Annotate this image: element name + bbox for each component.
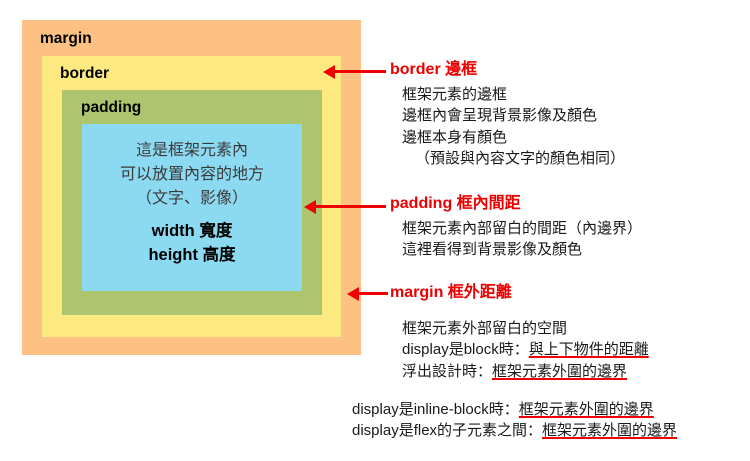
note-line: （預設與內容文字的顏色相同） bbox=[402, 148, 625, 169]
content-text-line: 可以放置內容的地方 bbox=[120, 163, 264, 187]
note-padding: padding 框內間距 框架元素內部留白的間距（內邊界） 這裡看得到背景影像及… bbox=[390, 194, 642, 261]
note-line-plain: 框架元素外部留白的空間 bbox=[402, 320, 567, 337]
note-line-plain: 浮出設計時： bbox=[402, 363, 492, 380]
margin-label: margin bbox=[40, 31, 92, 47]
note-line: display是block時：與上下物件的距離 bbox=[402, 339, 649, 360]
note-border: border 邊框 框架元素的邊框 邊框內會呈現背景影像及顏色 邊框本身有顏色 … bbox=[390, 60, 625, 169]
note-line-underlined: 框架元素外圍的邊界 bbox=[542, 422, 677, 439]
arrow-to-margin bbox=[358, 292, 388, 295]
content-text-line: 這是框架元素內 bbox=[136, 139, 248, 163]
arrow-to-border bbox=[334, 70, 386, 73]
margin-layer: margin border padding 這是框架元素內 可以放置內容的地方 … bbox=[22, 20, 361, 355]
content-width-label: width 寬度 bbox=[152, 220, 233, 244]
note-line-plain: display是block時： bbox=[402, 341, 529, 358]
note-margin-heading: margin 框外距離 bbox=[390, 283, 649, 302]
note-line-underlined: 框架元素外圍的邊界 bbox=[492, 363, 627, 380]
content-layer: 這是框架元素內 可以放置內容的地方 （文字、影像） width 寬度 heigh… bbox=[82, 124, 302, 291]
arrow-to-padding bbox=[315, 205, 386, 208]
note-line: 浮出設計時：框架元素外圍的邊界 bbox=[402, 361, 649, 382]
note-line-plain: display是flex的子元素之間： bbox=[352, 422, 542, 439]
content-text-line: （文字、影像） bbox=[136, 187, 248, 211]
note-line: 框架元素內部留白的間距（內邊界） bbox=[402, 218, 642, 239]
note-padding-heading: padding 框內間距 bbox=[390, 194, 642, 213]
note-line: 邊框本身有顏色 bbox=[402, 127, 625, 148]
note-line: 框架元素的邊框 bbox=[402, 84, 625, 105]
note-margin-body: 框架元素外部留白的空間 display是block時：與上下物件的距離 浮出設計… bbox=[402, 318, 649, 382]
content-height-label: height 高度 bbox=[148, 244, 235, 268]
note-line-plain: display是inline-block時： bbox=[352, 401, 519, 418]
note-border-heading: border 邊框 bbox=[390, 60, 625, 79]
note-border-body: 框架元素的邊框 邊框內會呈現背景影像及顏色 邊框本身有顏色 （預設與內容文字的顏… bbox=[402, 84, 625, 169]
border-label: border bbox=[60, 66, 109, 82]
border-layer: border padding 這是框架元素內 可以放置內容的地方 （文字、影像）… bbox=[42, 56, 341, 337]
note-line: display是inline-block時：框架元素外圍的邊界 bbox=[352, 399, 677, 420]
padding-layer: padding 這是框架元素內 可以放置內容的地方 （文字、影像） width … bbox=[62, 90, 322, 315]
box-model-diagram: margin border padding 這是框架元素內 可以放置內容的地方 … bbox=[22, 20, 361, 355]
note-line: 這裡看得到背景影像及顏色 bbox=[402, 239, 642, 260]
note-line: display是flex的子元素之間：框架元素外圍的邊界 bbox=[352, 420, 677, 441]
note-line-underlined: 框架元素外圍的邊界 bbox=[519, 401, 654, 418]
note-line: 框架元素外部留白的空間 bbox=[402, 318, 649, 339]
note-line-underlined: 與上下物件的距離 bbox=[529, 341, 649, 358]
note-line: 邊框內會呈現背景影像及顏色 bbox=[402, 105, 625, 126]
note-padding-body: 框架元素內部留白的間距（內邊界） 這裡看得到背景影像及顏色 bbox=[402, 218, 642, 261]
note-margin: margin 框外距離 框架元素外部留白的空間 display是block時：與… bbox=[390, 283, 649, 382]
padding-label: padding bbox=[81, 100, 141, 116]
note-margin-extra: display是inline-block時：框架元素外圍的邊界 display是… bbox=[352, 399, 677, 442]
